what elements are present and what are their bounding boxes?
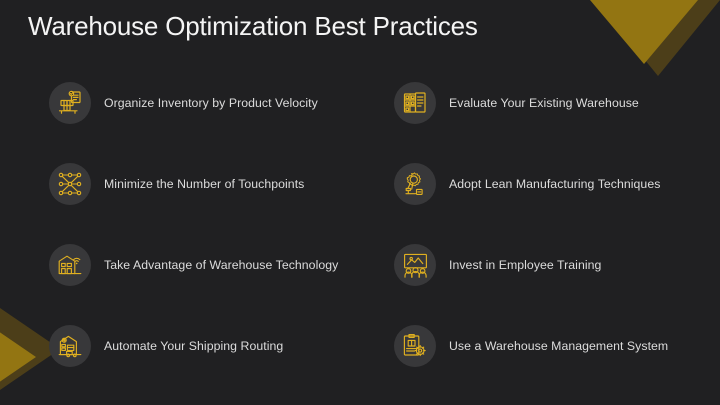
list-item-label: Minimize the Number of Touchpoints: [104, 177, 304, 191]
warehouse-truck-icon: [49, 325, 91, 367]
list-item[interactable]: Automate Your Shipping Routing: [49, 315, 384, 377]
gear-robot-arm-icon: [394, 163, 436, 205]
page-title: Warehouse Optimization Best Practices: [28, 11, 478, 42]
list-item-label: Invest in Employee Training: [449, 258, 601, 272]
list-item[interactable]: Take Advantage of Warehouse Technology: [49, 234, 384, 296]
list-item[interactable]: Minimize the Number of Touchpoints: [49, 153, 384, 215]
boxes-clipboard-icon: [49, 82, 91, 124]
list-item[interactable]: Adopt Lean Manufacturing Techniques: [394, 153, 720, 215]
list-item-label: Evaluate Your Existing Warehouse: [449, 96, 639, 110]
list-item-label: Automate Your Shipping Routing: [104, 339, 283, 353]
list-item[interactable]: Use a Warehouse Management System: [394, 315, 720, 377]
network-nodes-icon: [49, 163, 91, 205]
list-item[interactable]: Evaluate Your Existing Warehouse: [394, 72, 720, 134]
clipboard-gear-icon: [394, 325, 436, 367]
shelving-rack-icon: [394, 82, 436, 124]
list-item-label: Organize Inventory by Product Velocity: [104, 96, 318, 110]
list-item-label: Adopt Lean Manufacturing Techniques: [449, 177, 660, 191]
list-item-label: Use a Warehouse Management System: [449, 339, 668, 353]
list-item[interactable]: Invest in Employee Training: [394, 234, 720, 296]
best-practices-grid: Organize Inventory by Product Velocity E…: [0, 72, 720, 377]
slide-canvas: Warehouse Optimization Best Practices Or…: [0, 0, 720, 405]
top-right-chevron-inner-icon: [590, 0, 698, 64]
list-item-label: Take Advantage of Warehouse Technology: [104, 258, 338, 272]
top-right-chevron-outer-icon: [596, 0, 720, 76]
warehouse-wifi-icon: [49, 244, 91, 286]
list-item[interactable]: Organize Inventory by Product Velocity: [49, 72, 384, 134]
training-presentation-icon: [394, 244, 436, 286]
